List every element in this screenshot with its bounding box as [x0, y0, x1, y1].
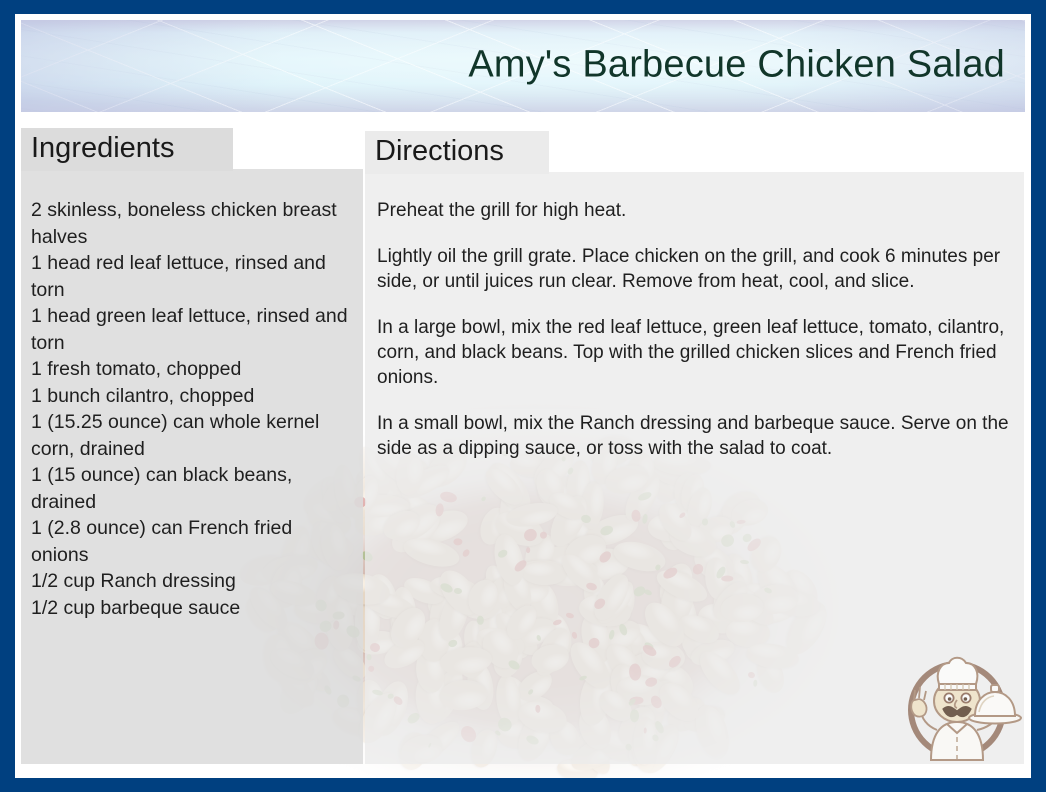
ingredient-item: 1/2 cup Ranch dressing: [31, 568, 353, 595]
ingredients-header: Ingredients: [21, 128, 233, 171]
title-banner: Amy's Barbecue Chicken Salad: [21, 20, 1025, 112]
direction-step: In a small bowl, mix the Ranch dressing …: [377, 411, 1012, 461]
ingredient-item: 1 head red leaf lettuce, rinsed and torn: [31, 250, 353, 303]
directions-header: Directions: [365, 131, 549, 174]
ingredient-item: 1 bunch cilantro, chopped: [31, 383, 353, 410]
ingredient-item: 1 head green leaf lettuce, rinsed and to…: [31, 303, 353, 356]
ingredient-item: 1 (2.8 ounce) can French fried onions: [31, 515, 353, 568]
direction-step: In a large bowl, mix the red leaf lettuc…: [377, 315, 1012, 390]
ingredient-item: 2 skinless, boneless chicken breast halv…: [31, 197, 353, 250]
ingredient-item: 1 (15.25 ounce) can whole kernel corn, d…: [31, 409, 353, 462]
page-title: Amy's Barbecue Chicken Salad: [468, 44, 1005, 87]
chef-logo: [891, 638, 1023, 764]
ingredient-item: 1 (15 ounce) can black beans, drained: [31, 462, 353, 515]
recipe-card: Amy's Barbecue Chicken Salad Ingredients…: [0, 0, 1046, 792]
ingredient-item: 1/2 cup barbeque sauce: [31, 595, 353, 622]
direction-step: Lightly oil the grill grate. Place chick…: [377, 244, 1012, 294]
ingredient-item: 1 fresh tomato, chopped: [31, 356, 353, 383]
ingredients-list: 2 skinless, boneless chicken breast halv…: [21, 169, 363, 764]
recipe-sheet: Amy's Barbecue Chicken Salad Ingredients…: [15, 14, 1031, 778]
direction-step: Preheat the grill for high heat.: [377, 198, 1012, 223]
